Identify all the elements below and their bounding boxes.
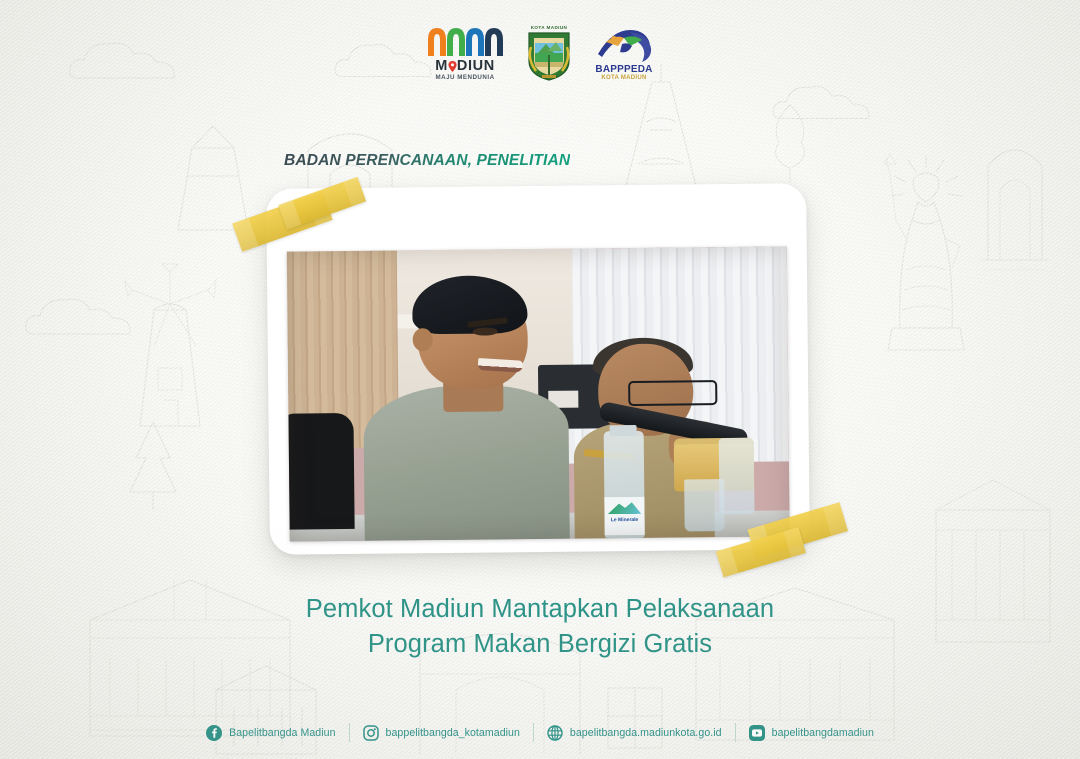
footer-item-website[interactable]: bapelitbangda.madiunkota.go.id [534, 725, 735, 741]
tree-watermark [760, 96, 820, 186]
windmill-watermark [96, 250, 246, 430]
kota-madiun-coat-of-arms: KOTA MADIUN [526, 25, 572, 81]
globe-icon [547, 725, 563, 741]
kota-madiun-label: KOTA MADIUN [531, 25, 568, 30]
photo-inner-shadow [287, 246, 790, 541]
facebook-icon [206, 725, 222, 741]
meeting-photo: Le Minerale [287, 246, 790, 541]
bapppeda-emblem-icon [594, 24, 654, 64]
madiun-tagline: MAJU MENDUNIA [435, 74, 494, 81]
cloud-watermark [20, 290, 140, 342]
footer-item-facebook[interactable]: Bapelitbangda Madiun [193, 725, 348, 741]
bapppeda-kota-madiun-logo: BAPPPEDA KOTA MADIUN [594, 24, 654, 81]
instagram-icon [363, 725, 379, 741]
footer-item-instagram[interactable]: bappelitbangda_kotamadiun [350, 725, 533, 741]
caption-line-2: Program Makan Bergizi Gratis [0, 627, 1080, 662]
photo-scene: Le Minerale [287, 246, 790, 541]
footer-label-website: bapelitbangda.madiunkota.go.id [570, 727, 722, 739]
tree-watermark [118, 414, 188, 514]
location-pin-icon [448, 61, 457, 72]
statue-of-liberty-watermark [856, 150, 996, 360]
monument-watermark [960, 120, 1070, 270]
footer-item-youtube[interactable]: bapelitbangdamadiun [736, 725, 887, 741]
madiun-arches-icon [426, 25, 504, 57]
building-facade-watermark [206, 660, 326, 759]
bapppeda-wordmark: BAPPPEDA [595, 65, 652, 75]
poster-canvas: M DIUN MAJU MENDUNIA KOTA MADIUN [0, 0, 1080, 759]
footer-label-youtube: bapelitbangdamadiun [772, 727, 874, 739]
caption-line-1: Pemkot Madiun Mantapkan Pelaksanaan [0, 592, 1080, 627]
org-heading-line-1: BADAN PERENCANAAN, PENELITIAN [284, 152, 570, 169]
social-footer: Bapelitbangda Madiun bappelitbangda_kota… [0, 723, 1080, 742]
footer-label-instagram: bappelitbangda_kotamadiun [386, 727, 520, 739]
cloud-watermark [768, 78, 878, 126]
footer-label-facebook: Bapelitbangda Madiun [229, 727, 335, 739]
youtube-icon [749, 725, 765, 741]
madiun-maju-mendunia-logo: M DIUN MAJU MENDUNIA [426, 25, 504, 82]
coat-of-arms-shield-icon [526, 31, 572, 81]
photo-card: Le Minerale [266, 183, 810, 555]
logo-row: M DIUN MAJU MENDUNIA KOTA MADIUN [0, 24, 1080, 81]
window-watermark [600, 676, 670, 756]
madiun-wordmark: M DIUN [435, 59, 495, 74]
caption: Pemkot Madiun Mantapkan Pelaksanaan Prog… [0, 592, 1080, 661]
bapppeda-subtitle: KOTA MADIUN [601, 75, 646, 81]
